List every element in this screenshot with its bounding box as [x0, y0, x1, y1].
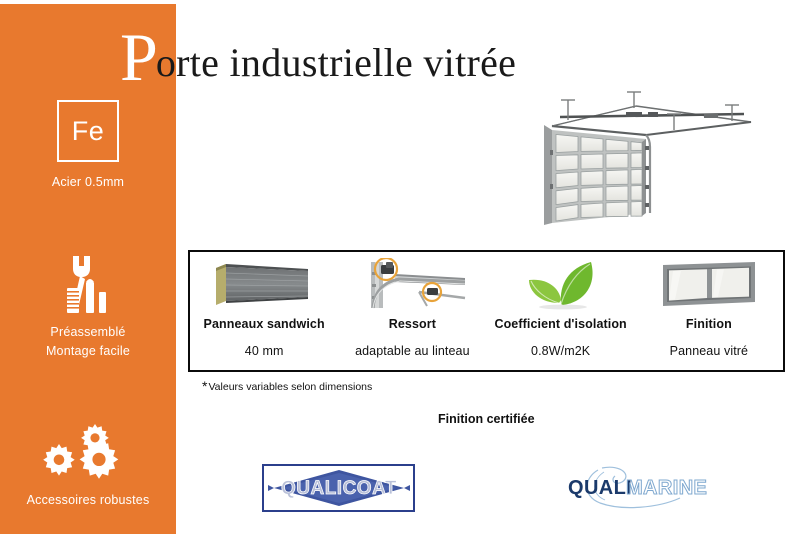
sidebar-item-preassemble: Préassemblé Montage facile: [0, 252, 176, 361]
qualicoat-logo: QUALICOAT: [262, 464, 415, 512]
sidebar-item-acier: Fe Acier 0.5mm: [0, 100, 176, 192]
feature-ressort: Ressort adaptable au linteau: [338, 252, 486, 370]
sidebar-item-acier-label: Acier 0.5mm: [0, 173, 176, 192]
feature-value: 40 mm: [245, 344, 284, 358]
gears-icon: [0, 420, 176, 482]
page-title: P orte industrielle vitrée: [120, 22, 516, 84]
footnote: * Valeurs variables selon dimensions: [202, 381, 372, 393]
sidebar-item-accessoires-label: Accessoires robustes: [0, 491, 176, 510]
footnote-text: Valeurs variables selon dimensions: [208, 381, 372, 393]
qualimarine-wordmark-bold: QUALI: [568, 477, 632, 499]
glazed-panel-image: [657, 258, 761, 310]
industrial-door-image: [508, 84, 756, 226]
qualicoat-wordmark: QUALICOAT: [280, 478, 396, 499]
qualimarine-logo: QUALI MARINE: [560, 462, 710, 512]
feature-title: Finition: [686, 317, 732, 331]
fe-symbol-label: Fe: [72, 118, 105, 145]
feature-value: 0.8W/m2K: [531, 344, 590, 358]
feature-value: adaptable au linteau: [355, 344, 470, 358]
feature-finition: Finition Panneau vitré: [635, 252, 783, 370]
features-panel: Panneaux sandwich 40 mm: [188, 250, 785, 372]
spring-mechanism-image: [353, 258, 471, 310]
fe-square-icon: Fe: [57, 100, 119, 162]
sandwich-panel-image: [208, 258, 320, 310]
page-title-rest: orte industrielle vitrée: [156, 40, 516, 86]
sidebar-item-accessoires: Accessoires robustes: [0, 420, 176, 510]
feature-title: Panneaux sandwich: [204, 317, 325, 331]
certification-label: Finition certifiée: [438, 412, 535, 426]
page-title-initial: P: [120, 26, 158, 88]
green-leaf-icon: [515, 258, 607, 310]
sidebar-item-preassemble-label-1: Préassemblé: [0, 323, 176, 342]
wrench-bolts-icon: [0, 252, 176, 314]
qualimarine-wordmark-light: MARINE: [626, 477, 707, 499]
feature-title: Coefficient d'isolation: [494, 317, 626, 331]
feature-coefficient-isolation: Coefficient d'isolation 0.8W/m2K: [487, 252, 635, 370]
feature-title: Ressort: [389, 317, 436, 331]
sidebar-item-preassemble-label-2: Montage facile: [0, 342, 176, 361]
feature-value: Panneau vitré: [670, 344, 748, 358]
footnote-asterisk: *: [202, 381, 207, 391]
poster-page: Fe Acier 0.5mm: [0, 0, 800, 534]
feature-panneaux-sandwich: Panneaux sandwich 40 mm: [190, 252, 338, 370]
